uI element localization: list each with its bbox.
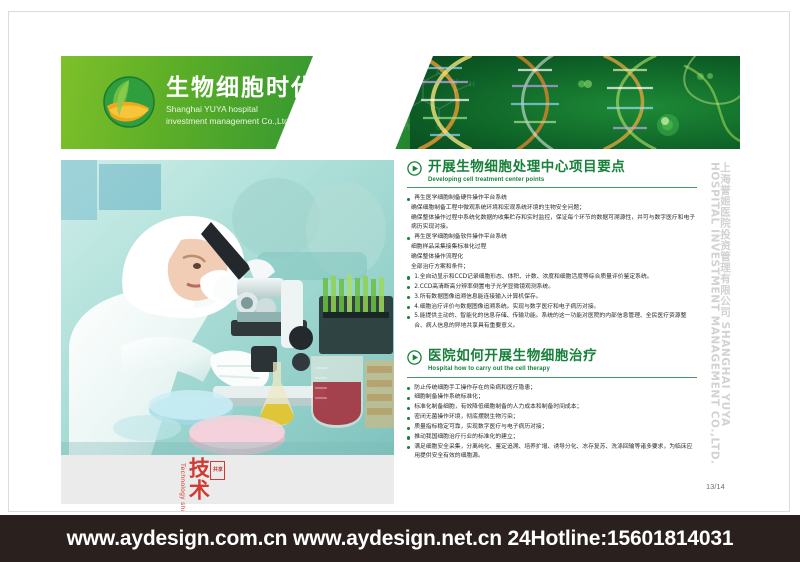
header-banner: NCC NNH CHH 生物细胞时代 Shanghai YUYA hospita… [61, 56, 740, 149]
list-item-text: 推动我国细胞治疗行业的标准化的建立； [414, 433, 697, 442]
section-divider [407, 377, 697, 378]
list-item-text: 质量指标稳定可靠，实现数字医疗与电子病历对接； [414, 423, 697, 432]
list-item: 防止传统细胞手工操作存在的染病和医疗隐患； [407, 384, 697, 393]
content-column: 开展生物细胞处理中心项目要点 Developing cell treatment… [407, 160, 697, 472]
section-divider [407, 187, 697, 188]
svg-text:H: H [469, 80, 475, 89]
section-header: 开展生物细胞处理中心项目要点 Developing cell treatment… [407, 160, 697, 184]
bullet-dot-icon [407, 407, 410, 410]
list-item: 质量指标稳定可靠，实现数字医疗与电子病历对接； [407, 423, 697, 432]
bullet-dot-icon [407, 417, 410, 420]
list-item: 再生医学细胞制备硬件操作平台系统 [407, 194, 697, 203]
list-item: 确保细胞制备工程中微观系统环境和宏观系统环境的生物安全问题； [407, 204, 697, 213]
svg-text:N: N [452, 78, 458, 87]
vertical-company-name: 上海誉姬医院投资管理有限公司 SHANGHAI YUYA HOSPITAL IN… [709, 162, 730, 472]
bullet-dot-icon [407, 436, 410, 439]
section-title-en: Developing cell treatment center points [428, 177, 697, 184]
play-circle-icon [407, 350, 422, 365]
section-title-cn: 医院如何开展生物细胞治疗 [428, 349, 697, 364]
bullet-dot-icon [407, 237, 410, 240]
list-item-text: 标准化制备细胞，有效降低细胞制备的人力成本和制备时间成本； [414, 403, 697, 412]
list-item-text: 密闭无菌操作环境，彻底摆脱生物污染； [414, 413, 697, 422]
list-item: 全部治疗方案和条件； [407, 263, 697, 272]
bullet-dot-icon [407, 446, 410, 449]
list-item-text: 再生医学细胞制备硬件操作平台系统 [414, 194, 697, 203]
list-item-text: 1.全自动显示和CCD记录细胞形态、体积、计数、浓度和细胞活度等综合质量评价鉴定… [414, 273, 697, 282]
leaf-circle-logo-icon [103, 76, 155, 128]
list-item-text: 3.所有数据图像追溯信息能连接输入计算机保存。 [414, 293, 697, 302]
caption-title-cn: 技术 [187, 457, 208, 501]
svg-text:H: H [404, 123, 410, 132]
list-item-text: 满足细胞安全采集，分离纯化、鉴定追溯、培养扩增、诱导分化、冻存复苏、洗涤回输等诸… [414, 443, 697, 462]
list-item: 4.细胞治疗评价与数据图像追溯系统。实现与数字医疗和电子病历对接。 [407, 303, 697, 312]
brand-name-en: Shanghai YUYA hospital investment manage… [166, 104, 316, 127]
section-developing-cell-center: 开展生物细胞处理中心项目要点 Developing cell treatment… [407, 160, 697, 331]
photo-caption-strip: Technology sharing 技术 共享 [61, 455, 394, 504]
bullet-dot-icon [407, 306, 410, 309]
play-circle-icon [407, 161, 422, 176]
bullet-dot-icon [407, 198, 410, 201]
page-number: 13/14 [706, 482, 725, 491]
svg-text:N: N [387, 78, 393, 87]
bullet-dot-icon [407, 427, 410, 430]
section-title-cn: 开展生物细胞处理中心项目要点 [428, 160, 697, 175]
list-item: 确保整体操作流程化 [407, 253, 697, 262]
lab-scientist-microscope-photo [61, 160, 394, 455]
list-item-text: 全部治疗方案和条件； [411, 263, 697, 272]
bullet-dot-icon [407, 397, 410, 400]
list-item-text: 细胞样品采集接集标准化过程 [411, 243, 697, 252]
list-item-text: 4.细胞治疗评价与数据图像追溯系统。实现与数字医疗和电子病历对接。 [414, 303, 697, 312]
brand-text-block: 生物细胞时代 Shanghai YUYA hospital investment… [166, 77, 316, 127]
bullet-dot-icon [407, 286, 410, 289]
brand-name-cn: 生物细胞时代 [166, 77, 316, 100]
bullet-dot-icon [407, 387, 410, 390]
list-item-text: 2.CCD高清断高分辨率倒置电子光学显微镜观测系统。 [414, 283, 697, 292]
footer-contact-text: www.aydesign.com.cn www.aydesign.net.cn … [67, 527, 734, 551]
svg-text:H: H [371, 80, 377, 89]
list-item: 1.全自动显示和CCD记录细胞形态、体积、计数、浓度和细胞活度等综合质量评价鉴定… [407, 273, 697, 282]
list-item-text: 再生医学细胞制备软件操作平台系统 [414, 233, 697, 242]
svg-text:N: N [436, 69, 442, 78]
list-item: 2.CCD高清断高分辨率倒置电子光学显微镜观测系统。 [407, 283, 697, 292]
svg-text:C: C [420, 78, 426, 87]
list-item: 标准化制备细胞，有效降低细胞制备的人力成本和制备时间成本； [407, 403, 697, 412]
list-item-text: 确保细胞制备工程中微观系统环境和宏观系统环境的生物安全问题； [411, 204, 697, 213]
svg-text:C: C [436, 123, 442, 132]
list-item: 3.所有数据图像追溯信息能连接输入计算机保存。 [407, 293, 697, 302]
section-title-en: Hospital how to carry out the cell thera… [428, 366, 697, 373]
caption-vertical-en: Technology sharing [179, 463, 186, 512]
molecule-hexagon-icon: NCC NNH CHH [361, 64, 481, 140]
footer-bar: www.aydesign.com.cn www.aydesign.net.cn … [0, 515, 800, 562]
list-item: 5.能提供主动的、智能化的信息存储、传输功能。系统的这一功能对医院的内部信息管理… [407, 312, 697, 331]
list-item-text: 防止传统细胞手工操作存在的染病和医疗隐患； [414, 384, 697, 393]
bullet-dot-icon [407, 296, 410, 299]
section-hospital-cell-therapy: 医院如何开展生物细胞治疗 Hospital how to carry out t… [407, 349, 697, 461]
list-item: 再生医学细胞制备软件操作平台系统 [407, 233, 697, 242]
list-item: 确保整体操作过程中系统化数据的收集贮存和实时监控，保证每个环节的数据可溯源性，并… [407, 214, 697, 233]
bullet-dot-icon [407, 276, 410, 279]
brand-logo-block: 生物细胞时代 Shanghai YUYA hospital investment… [103, 76, 316, 128]
list-item: 细胞样品采集接集标准化过程 [407, 243, 697, 252]
list-item: 细胞制备操作系统标准化； [407, 393, 697, 402]
list-item-text: 确保整体操作流程化 [411, 253, 697, 262]
list-item-text: 确保整体操作过程中系统化数据的收集贮存和实时监控，保证每个环节的数据可溯源性，并… [411, 214, 697, 233]
brochure-page: NCC NNH CHH 生物细胞时代 Shanghai YUYA hospita… [8, 11, 790, 512]
list-item: 密闭无菌操作环境，彻底摆脱生物污染； [407, 413, 697, 422]
list-item-text: 5.能提供主动的、智能化的信息存储、传输功能。系统的这一功能对医院的内部信息管理… [414, 312, 697, 331]
section-header: 医院如何开展生物细胞治疗 Hospital how to carry out t… [407, 349, 697, 373]
svg-text:C: C [404, 69, 410, 78]
seal-stamp-icon: 共享 [210, 461, 225, 480]
list-item: 满足细胞安全采集，分离纯化、鉴定追溯、培养扩增、诱导分化、冻存复苏、洗涤回输等诸… [407, 443, 697, 462]
list-item-text: 细胞制备操作系统标准化； [414, 393, 697, 402]
bullet-dot-icon [407, 316, 410, 319]
list-item: 推动我国细胞治疗行业的标准化的建立； [407, 433, 697, 442]
